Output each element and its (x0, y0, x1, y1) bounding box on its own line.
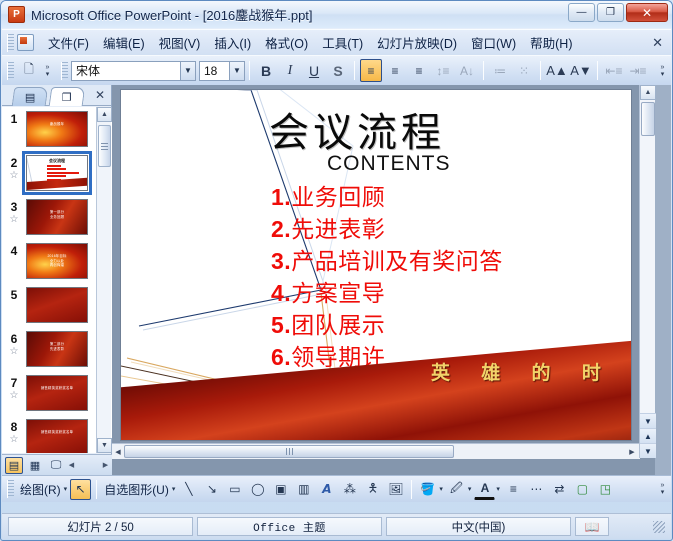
animation-star-icon: ☆ (2, 346, 26, 357)
window-title: Microsoft Office PowerPoint - [2016鏖战猴年.… (31, 5, 313, 24)
menu-slideshow[interactable]: 幻灯片放映(D) (370, 30, 464, 55)
font-size-value: 18 (200, 64, 229, 78)
thumbnail-row[interactable]: 1鏖战猴年 (2, 111, 96, 147)
thumbnail-number: 5 (2, 289, 26, 302)
animation-star-icon: ☆ (2, 434, 26, 445)
insert-picture-icon[interactable]: 🖼 (385, 479, 406, 500)
arrow-style-icon[interactable]: ⇄ (549, 479, 570, 500)
close-pane-button[interactable]: ✕ (95, 88, 105, 102)
thumbnail-row[interactable]: 8☆销售精英奖获奖名单 (2, 419, 96, 453)
slide-horizontal-scrollbar[interactable]: ◀ ▶ (112, 443, 640, 459)
thumbnail-list: 1鏖战猴年2☆会议流程3☆第一部分业务回顾42016年目标全力以赴再创辉煌56☆… (2, 107, 96, 453)
slide-list-item: 4.方案宣导 (271, 278, 631, 310)
thumbnail-number: 1 (2, 113, 26, 126)
thumbnail-text-line (47, 165, 61, 167)
toolbar-separator (411, 480, 412, 499)
chevron-down-icon[interactable]: ▾ (172, 485, 176, 493)
scroll-up-icon[interactable]: ▲ (97, 107, 112, 122)
character-spacing-button[interactable]: A↓ (456, 59, 478, 82)
slide-list-item-number: 6. (271, 344, 291, 370)
next-slide-button[interactable]: ▼ (640, 443, 656, 458)
banner-text: 英 雄 的 时 代 (431, 358, 632, 385)
line-spacing-button[interactable]: ↕≡ (432, 59, 454, 82)
thumbnail-meta: 4 (2, 243, 26, 258)
3d-style-icon[interactable]: ◳ (595, 479, 616, 500)
thumbnail-meta: 3☆ (2, 199, 26, 225)
slide-subtitle[interactable]: CONTENTS (327, 152, 451, 176)
underline-button[interactable]: U (303, 59, 325, 82)
drawbar-overflow[interactable]: »▾ (656, 477, 669, 501)
pane-tab-strip: ▤ ❐ ✕ (2, 85, 111, 106)
bulleted-list-button[interactable]: ⁙ (513, 59, 535, 82)
document-icon (17, 34, 34, 51)
thumbnail-row[interactable]: 3☆第一部分业务回顾 (2, 199, 96, 235)
close-document-button[interactable]: ✕ (652, 35, 663, 51)
font-color-icon[interactable]: A (474, 479, 495, 500)
slide-list-item: 2.先进表彰 (271, 214, 631, 246)
increase-font-size-button[interactable]: A▲ (546, 59, 568, 82)
view-slideshow-button[interactable]: 🖵 (47, 457, 65, 474)
chevron-down-icon[interactable]: ▾ (496, 485, 500, 493)
line-color-icon[interactable]: 🖉 (446, 479, 467, 500)
thumbnail-caption: 第二部分先进表彰 (27, 342, 87, 351)
thumbnail-meta: 2☆ (2, 155, 26, 181)
thumbnail-number: 2 (2, 157, 26, 170)
thumbnail-meta: 1 (2, 111, 26, 126)
diagram-icon[interactable]: ⁂ (339, 479, 360, 500)
thumbnail-text-line (47, 168, 66, 170)
title-bar: P Microsoft Office PowerPoint - [2016鏖战猴… (1, 1, 672, 28)
resize-grip-icon[interactable] (653, 521, 665, 533)
slide-list-item-number: 5. (271, 312, 291, 338)
slide-vertical-scrollbar[interactable]: ▲ ▼ ▲ ▼ (639, 85, 655, 458)
slide-list-item: 3.产品培训及有奖问答 (271, 246, 631, 278)
slide-thumbnail[interactable]: 销售精英奖获奖名单 (26, 419, 88, 453)
menu-format[interactable]: 格式(O) (258, 30, 315, 55)
thumbnail-meta: 5 (2, 287, 26, 302)
tab-slides[interactable]: ❐ (49, 87, 86, 106)
thumbnail-number: 8 (2, 421, 26, 434)
thumbnail-row[interactable]: 2☆会议流程 (2, 155, 96, 191)
scroll-down-icon[interactable]: ▼ (97, 438, 112, 453)
vscroll-up-icon[interactable]: ▲ (640, 85, 656, 100)
toolbar-separator (96, 480, 97, 499)
align-center-button[interactable]: ≡ (384, 59, 406, 82)
thumbnail-number: 3 (2, 201, 26, 214)
thumbnail-meta: 6☆ (2, 331, 26, 357)
thumbnail-caption: 第一部分业务回顾 (27, 210, 87, 219)
decrease-font-size-button[interactable]: A▼ (570, 59, 592, 82)
slide-list-item-text: 先进表彰 (291, 217, 385, 243)
slide-list-item: 1.业务回顾 (271, 182, 631, 214)
work-area: ▤ ❐ ✕ 1鏖战猴年2☆会议流程3☆第一部分业务回顾42016年目标全力以赴再… (2, 85, 671, 475)
language-indicator[interactable]: 中文(中国) (386, 517, 571, 536)
toolbar-separator (483, 61, 484, 80)
slide-list-item-text: 业务回顾 (291, 185, 385, 211)
window-controls: — ❐ ✕ (568, 3, 668, 22)
slide-indicator: 幻灯片 2 / 50 (8, 517, 193, 536)
toolbar-overflow-1[interactable]: »▾ (41, 59, 54, 83)
text-shadow-button[interactable]: S (327, 59, 349, 82)
slide-editing-area: 会议流程 CONTENTS 1.业务回顾2.先进表彰3.产品培训及有奖问答4.方… (112, 85, 655, 475)
slide-thumbnail[interactable]: 鏖战猴年 (26, 111, 88, 147)
align-right-button[interactable]: ≡ (408, 59, 430, 82)
thumbnail-text-line (47, 172, 79, 174)
menu-bar: 文件(F) 编辑(E) 视图(V) 插入(I) 格式(O) 工具(T) 幻灯片放… (2, 29, 671, 55)
chevron-down-icon[interactable]: ▾ (64, 485, 68, 493)
animation-star-icon: ☆ (2, 170, 26, 181)
fill-color-icon[interactable]: 🪣 (417, 479, 438, 500)
restore-button[interactable]: ❐ (597, 3, 624, 22)
thumbnail-row[interactable]: 42016年目标全力以赴再创辉煌 (2, 243, 96, 279)
thumbnail-number: 4 (2, 245, 26, 258)
slide-thumbnail[interactable]: 第一部分业务回顾 (26, 199, 88, 235)
thumbnail-row[interactable]: 6☆第二部分先进表彰 (2, 331, 96, 367)
slide-list-item-text: 团队展示 (291, 313, 385, 339)
bold-button[interactable]: B (255, 59, 277, 82)
menu-view[interactable]: 视图(V) (152, 30, 208, 55)
slide-list-item-number: 2. (271, 216, 291, 242)
chevron-down-icon[interactable]: ▾ (468, 485, 472, 493)
wordart-icon[interactable]: 𝘼 (316, 479, 337, 500)
view-slide-sorter-button[interactable]: ▦ (26, 457, 44, 474)
view-normal-button[interactable]: ▤ (5, 457, 23, 474)
toolbar-separator (249, 61, 250, 80)
tab-slides-icon: ❐ (62, 91, 72, 104)
font-name-value: 宋体 (72, 62, 180, 79)
theme-indicator[interactable]: Office 主题 (197, 517, 382, 536)
draw-menu-button[interactable]: 绘图(R) (17, 481, 64, 498)
hscroll-right-icon[interactable]: ▶ (626, 445, 638, 458)
thumbnail-meta: 8☆ (2, 419, 26, 445)
thumbnail-number: 7 (2, 377, 26, 390)
tab-outline[interactable]: ▤ (12, 87, 49, 106)
thumbnail-caption: 鏖战猴年 (27, 122, 87, 127)
slides-pane: ▤ ❐ ✕ 1鏖战猴年2☆会议流程3☆第一部分业务回顾42016年目标全力以赴再… (2, 85, 112, 475)
shadow-style-icon[interactable]: ▢ (572, 479, 593, 500)
view-buttons-bar: ▤ ▦ 🖵 ◀ ▶ (2, 454, 112, 475)
toolbar-grip-handle-1[interactable] (7, 62, 14, 80)
powerpoint-icon: P (8, 6, 25, 23)
scrollbar-thumb[interactable] (98, 125, 111, 167)
thumbnail-caption: 2016年目标全力以赴再创辉煌 (27, 254, 87, 268)
text-box-icon[interactable]: ▣ (270, 479, 291, 500)
toolbar-separator (597, 61, 598, 80)
toolbar-separator (540, 61, 541, 80)
minimize-button[interactable]: — (568, 3, 595, 22)
powerpoint-window: P Microsoft Office PowerPoint - [2016鏖战猴… (0, 0, 673, 541)
toolbar-grip-handle-2[interactable] (61, 62, 68, 80)
chevron-down-icon[interactable]: ▾ (439, 485, 443, 493)
drawing-toolbar: 绘图(R) ▾ ↖ 自选图形(U) ▾ ╲ ↘ ▭ ◯ ▣ ▥ 𝘼 ⁂ 🯅 🖼 … (2, 475, 671, 502)
autoshapes-menu-button[interactable]: 自选图形(U) (101, 481, 172, 498)
slide-thumbnail[interactable]: 第二部分先进表彰 (26, 331, 88, 367)
chevron-down-icon[interactable]: ▼ (180, 62, 195, 80)
slide-list-item: 5.团队展示 (271, 310, 631, 342)
slide-thumbnail[interactable]: 会议流程 (26, 155, 88, 191)
dash-style-icon[interactable]: ⋯ (526, 479, 547, 500)
current-slide-canvas[interactable]: 会议流程 CONTENTS 1.业务回顾2.先进表彰3.产品培训及有奖问答4.方… (120, 89, 632, 441)
hscroll-left-icon[interactable]: ◀ (112, 445, 124, 458)
slide-thumbnail[interactable] (26, 287, 88, 323)
arrow-icon[interactable]: ↘ (201, 479, 222, 500)
slide-list-item-number: 3. (271, 248, 291, 274)
slide-title[interactable]: 会议流程 (269, 100, 445, 158)
oval-icon[interactable]: ◯ (247, 479, 268, 500)
thumbnail-scrollbar[interactable]: ▲ ▼ (96, 107, 111, 453)
menu-insert[interactable]: 插入(I) (207, 30, 258, 55)
increase-indent-button[interactable]: ⇥≡ (627, 59, 649, 82)
pane-scroll-left-icon[interactable]: ◀ (65, 458, 78, 473)
font-name-combobox[interactable]: 宋体 ▼ (71, 61, 196, 81)
menu-edit[interactable]: 编辑(E) (96, 30, 152, 55)
vscrollbar-thumb[interactable] (641, 102, 655, 136)
menu-file[interactable]: 文件(F) (41, 30, 96, 55)
thumbnail-row[interactable]: 5 (2, 287, 96, 323)
clip-art-icon[interactable]: 🯅 (362, 479, 383, 500)
hscrollbar-grip-icon (286, 448, 293, 455)
thumbnail-caption: 销售精英奖获奖名单 (27, 430, 87, 435)
slide-list-item-text: 方案宣导 (291, 281, 385, 307)
slide-list-item-text: 产品培训及有奖问答 (291, 249, 503, 275)
chevron-down-icon[interactable]: ▼ (229, 62, 244, 80)
thumbnail-text-line (47, 175, 66, 177)
vertical-text-box-icon[interactable]: ▥ (293, 479, 314, 500)
align-left-button[interactable]: ≡ (360, 59, 382, 82)
menu-tools[interactable]: 工具(T) (315, 30, 370, 55)
slide-thumbnail[interactable]: 2016年目标全力以赴再创辉煌 (26, 243, 88, 279)
select-objects-icon[interactable]: ↖ (70, 479, 91, 500)
font-size-combobox[interactable]: 18 ▼ (199, 61, 245, 81)
new-file-icon[interactable]: 🗋 (18, 59, 40, 82)
menu-help[interactable]: 帮助(H) (523, 30, 579, 55)
toolbar-overflow-2[interactable]: »▾ (656, 59, 669, 83)
animation-star-icon: ☆ (2, 214, 26, 225)
hscrollbar-thumb[interactable] (124, 445, 454, 458)
tab-outline-icon: ▤ (25, 91, 35, 104)
line-icon[interactable]: ╲ (178, 479, 199, 500)
animation-star-icon: ☆ (2, 390, 26, 401)
decrease-indent-button[interactable]: ⇤≡ (603, 59, 625, 82)
status-bar: 幻灯片 2 / 50 Office 主题 中文(中国) 📖 (2, 513, 671, 539)
formatting-toolbar: 🗋 »▾ 宋体 ▼ 18 ▼ B I U S ≡ ≡ ≡ ↕≡ A↓ ≔ ⁙ A… (2, 55, 671, 85)
slide-list-item-number: 4. (271, 280, 291, 306)
slide-thumbnail[interactable]: 销售精英奖获奖名单 (26, 375, 88, 411)
thumbnail-number: 6 (2, 333, 26, 346)
thumbnail-title: 会议流程 (49, 158, 65, 164)
pane-scroll-right-icon[interactable]: ▶ (99, 458, 112, 473)
rectangle-icon[interactable]: ▭ (224, 479, 245, 500)
numbered-list-button[interactable]: ≔ (489, 59, 511, 82)
thumbnail-caption: 销售精英奖获奖名单 (27, 386, 87, 391)
menu-window[interactable]: 窗口(W) (464, 30, 523, 55)
close-button[interactable]: ✕ (626, 3, 668, 22)
slide-list-item-number: 1. (271, 184, 291, 210)
previous-slide-button[interactable]: ▲ (640, 428, 656, 443)
line-style-icon[interactable]: ≡ (503, 479, 524, 500)
thumbnail-meta: 7☆ (2, 375, 26, 401)
drawbar-grip-handle[interactable] (7, 480, 14, 498)
vscroll-down-icon[interactable]: ▼ (640, 413, 656, 428)
toolbar-separator (354, 61, 355, 80)
menu-grip-handle[interactable] (7, 34, 14, 52)
italic-button[interactable]: I (279, 59, 301, 82)
scrollbar-grip-icon (101, 143, 108, 150)
thumbnail-row[interactable]: 7☆销售精英奖获奖名单 (2, 375, 96, 411)
spellcheck-icon[interactable]: 📖 (575, 517, 609, 536)
